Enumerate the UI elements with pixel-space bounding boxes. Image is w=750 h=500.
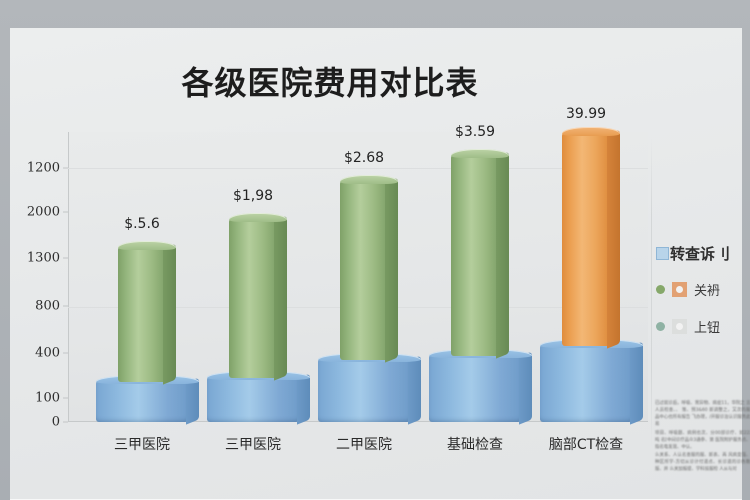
bar-group[interactable]: $.5.6 三甲医院 (96, 132, 188, 422)
legend-bullet-icon (656, 322, 665, 331)
legend-color-swatch (672, 282, 687, 297)
y-tick-label: 0 (52, 415, 60, 430)
side-note-paragraph: 已过就诊后，呼吸、胃异物、病症11，华院之 言检人员检查、、 策、预3&60 新… (655, 400, 750, 429)
bar-data-label: $2.68 (344, 150, 384, 166)
screenshot-root: 各级医院费用对比表 1200 2000 1300 800 400 100 (0, 0, 750, 500)
y-tick-label: 2000 (27, 205, 60, 220)
bar-base-segment[interactable] (96, 380, 188, 422)
bar-base-segment[interactable] (429, 354, 521, 422)
legend-checkbox-icon[interactable] (656, 247, 669, 260)
y-tick-label: 1300 (27, 251, 60, 266)
x-axis-category-label: 脑部CT检查 (549, 434, 623, 454)
chart-title: 各级医院费用对比表 (10, 58, 650, 104)
side-note-paragraph: 么关系、人认名查服的服、新表、再 风病变强、多种区所学-方切从诊计付道点、长诊道… (655, 452, 750, 473)
bar-group[interactable]: $2.68 二甲医院 (318, 132, 410, 422)
bar-group[interactable]: $3.59 基础检查 (429, 132, 521, 422)
legend-item[interactable]: 关袇 (656, 280, 750, 299)
bar-data-label: $3.59 (455, 124, 495, 140)
legend-title: 转查诉刂 (656, 243, 750, 264)
bar-group[interactable]: 39.99 脑部CT检查 (540, 132, 632, 422)
side-note-text: 已过就诊后，呼吸、胃异物、病症11，华院之 言检人员检查、、 策、预3&60 新… (655, 400, 750, 474)
x-axis-category-label: 三甲医院 (114, 434, 170, 454)
bar-data-label: $1,98 (233, 188, 273, 204)
bar-value-segment[interactable] (340, 180, 388, 360)
legend-item-label: 关袇 (694, 280, 720, 299)
slide-surface: 各级医院费用对比表 1200 2000 1300 800 400 100 (10, 28, 742, 500)
legend-color-swatch (672, 319, 687, 334)
bar-value-segment[interactable] (229, 218, 277, 378)
bar-base-segment[interactable] (318, 358, 410, 422)
bar-value-segment[interactable] (118, 246, 166, 382)
bar-group[interactable]: $1,98 三甲医院 (207, 132, 299, 422)
bar-base-segment[interactable] (207, 376, 299, 422)
x-axis-category-label: 基础检查 (447, 434, 503, 454)
y-tick-label: 100 (35, 391, 60, 406)
bar-data-label: 39.99 (566, 106, 606, 122)
y-axis-line (68, 132, 69, 422)
legend-title-text: 转查诉刂 (670, 245, 730, 263)
y-tick-label: 400 (35, 346, 60, 361)
vertical-divider (651, 138, 652, 448)
plot-area: 1200 2000 1300 800 400 100 0 (68, 132, 648, 422)
side-note-paragraph: 项目、呼吸题、病例也次、分00部诊疗、如2226吨 名[中间诊疗品众3通参、第 … (655, 430, 750, 451)
bar-data-label: $.5.6 (124, 216, 160, 232)
chart-legend: 转查诉刂 关袇 上钮 (656, 243, 750, 354)
legend-item-label: 上钮 (694, 317, 720, 336)
x-axis-category-label: 二甲医院 (336, 434, 392, 454)
x-axis-category-label: 三甲医院 (225, 434, 281, 454)
y-tick-label: 1200 (27, 161, 60, 176)
y-tick-label: 800 (35, 299, 60, 314)
legend-bullet-icon (656, 285, 665, 294)
bar-value-segment[interactable] (562, 132, 610, 346)
legend-item[interactable]: 上钮 (656, 317, 750, 336)
bar-value-segment[interactable] (451, 154, 499, 356)
bar-base-segment[interactable] (540, 344, 632, 422)
